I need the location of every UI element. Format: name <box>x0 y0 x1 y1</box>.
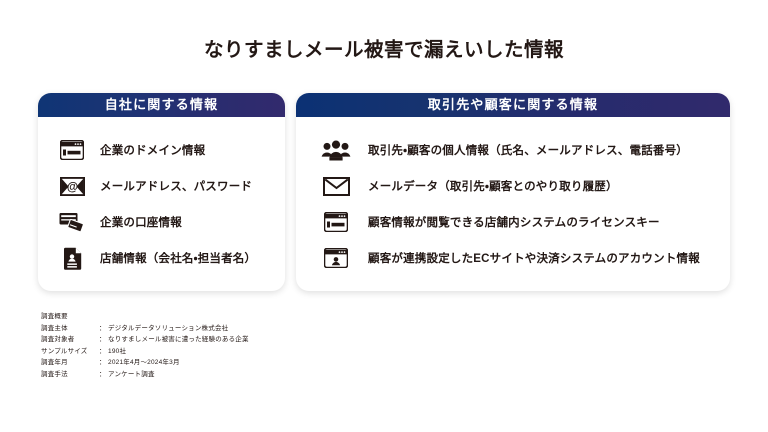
survey-row-key: 調査対象者 <box>41 337 99 344</box>
list-item: メールデータ（取引先・顧客とのやり取り履歴） <box>296 168 730 204</box>
survey-row: サンプルサイズ ： 190社 <box>41 349 249 356</box>
list-item: 顧客情報が閲覧できる店舗内システムのライセンスキー <box>296 204 730 240</box>
list-item-label: メールデータ（取引先・顧客とのやり取り履歴） <box>368 178 618 194</box>
browser-password-icon <box>318 209 354 235</box>
survey-row: 調査主体 ： デジタルデータソリューション株式会社 <box>41 326 249 333</box>
survey-row-separator: ： <box>99 360 108 367</box>
survey-row-key: 調査主体 <box>41 326 99 333</box>
list-item: 企業の口座情報 <box>38 204 285 240</box>
panel-body-own-company: 企業のドメイン情報 @ メールアドレス、パスワード <box>38 117 285 291</box>
survey-row-separator: ： <box>99 372 108 379</box>
survey-row-value: なりすましメール被害に遭った経験のある企業 <box>108 337 249 344</box>
panel-body-clients-customers: 取引先・顧客の個人情報（氏名、メールアドレス、電話番号） メールデータ（取引先・… <box>296 117 730 291</box>
list-item: 店舗情報（会社名・担当者名） <box>38 240 285 276</box>
list-item: 取引先・顧客の個人情報（氏名、メールアドレス、電話番号） <box>296 132 730 168</box>
survey-row-value: 2021年4月〜2024年3月 <box>108 360 180 367</box>
list-item: 顧客が連携設定したECサイトや決済システムのアカウント情報 <box>296 240 730 276</box>
document-person-icon <box>56 245 88 271</box>
browser-account-icon <box>318 245 354 271</box>
panel-header-own-company: 自社に関する情報 <box>38 93 285 117</box>
survey-row: 調査対象者 ： なりすましメール被害に遭った経験のある企業 <box>41 337 249 344</box>
panel-own-company: 自社に関する情報 企業のドメイン情報 <box>38 93 285 291</box>
list-item-label: 企業のドメイン情報 <box>100 142 205 158</box>
survey-row: 調査年月 ： 2021年4月〜2024年3月 <box>41 360 249 367</box>
list-item: @ メールアドレス、パスワード <box>38 168 285 204</box>
survey-row-separator: ： <box>99 349 108 356</box>
list-item-label: 企業の口座情報 <box>100 214 182 230</box>
survey-row-value: 190社 <box>108 349 126 356</box>
survey-row-key: サンプルサイズ <box>41 349 99 356</box>
list-item-label: 顧客情報が閲覧できる店舗内システムのライセンスキー <box>368 214 660 230</box>
list-item-label: メールアドレス、パスワード <box>100 178 252 194</box>
survey-row-separator: ： <box>99 337 108 344</box>
people-group-icon <box>318 137 354 163</box>
survey-row-key: 調査手法 <box>41 372 99 379</box>
list-item: 企業のドメイン情報 <box>38 132 285 168</box>
survey-row-value: デジタルデータソリューション株式会社 <box>108 326 228 333</box>
browser-window-icon <box>56 137 88 163</box>
envelope-icon <box>318 173 354 199</box>
panel-header-clients-customers: 取引先や顧客に関する情報 <box>296 93 730 117</box>
credit-cards-icon <box>56 209 88 235</box>
survey-row: 調査手法 ： アンケート調査 <box>41 372 249 379</box>
svg-text:@: @ <box>66 181 77 193</box>
info-panels-container: 自社に関する情報 企業のドメイン情報 <box>38 93 730 293</box>
list-item-label: 取引先・顧客の個人情報（氏名、メールアドレス、電話番号） <box>368 142 688 158</box>
survey-row-value: アンケート調査 <box>108 372 155 379</box>
envelope-at-icon: @ <box>56 173 88 199</box>
survey-row-key: 調査年月 <box>41 360 99 367</box>
list-item-label: 店舗情報（会社名・担当者名） <box>100 250 256 266</box>
survey-summary: 調査概要 調査主体 ： デジタルデータソリューション株式会社 調査対象者 ： な… <box>41 314 249 383</box>
survey-row-separator: ： <box>99 326 108 333</box>
survey-summary-title: 調査概要 <box>41 314 249 321</box>
panel-clients-customers: 取引先や顧客に関する情報 取引先・顧客の個人情報（氏名、メールアドレス、電話番号… <box>296 93 730 291</box>
page-title: なりすましメール被害で漏えいした情報 <box>0 33 768 62</box>
list-item-label: 顧客が連携設定したECサイトや決済システムのアカウント情報 <box>368 250 700 266</box>
